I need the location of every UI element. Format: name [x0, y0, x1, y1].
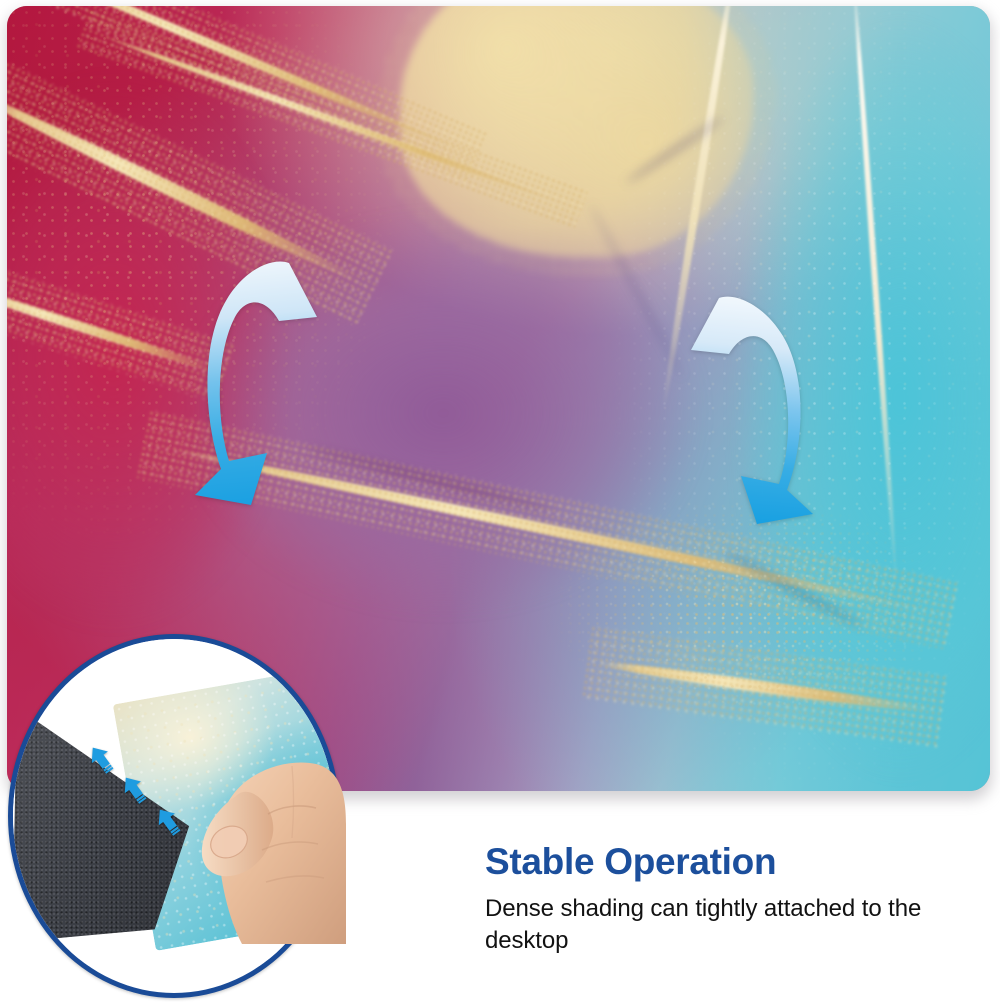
grip-arrow-icon: [121, 774, 147, 804]
gold-speckle-lower: [557, 493, 970, 791]
grip-arrow-icon: [155, 806, 181, 836]
feature-description: Dense shading can tightly attached to th…: [485, 893, 955, 958]
feature-text-block: Stable Operation Dense shading can tight…: [485, 843, 955, 958]
feature-headline: Stable Operation: [485, 843, 955, 882]
grip-arrow-icon: [88, 744, 114, 774]
product-feature-image: Stable Operation Dense shading can tight…: [0, 0, 1000, 1002]
inset-photo: [8, 634, 340, 966]
feature-description-line-1: Dense shading can tightly attached: [485, 895, 855, 922]
gold-speckle-left: [7, 6, 459, 618]
